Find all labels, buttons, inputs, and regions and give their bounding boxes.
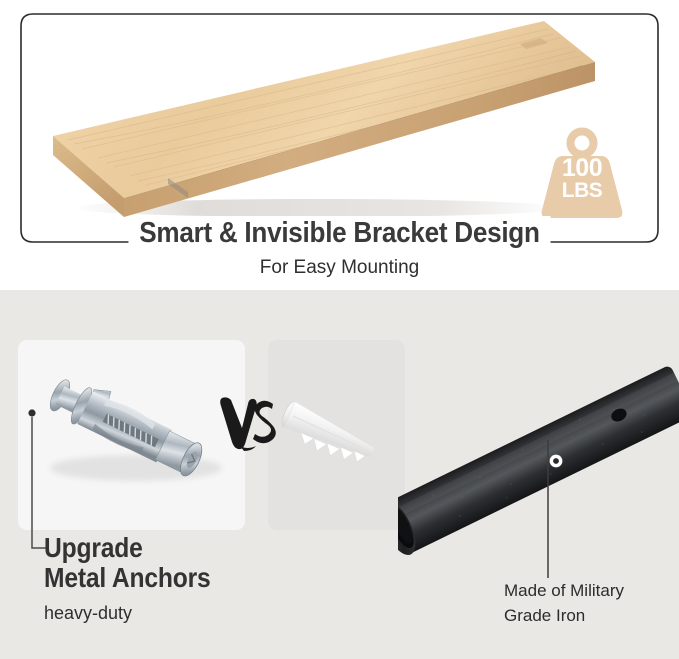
caption-right: Made of Military Grade Iron: [504, 578, 679, 628]
callout-dot-icon: [550, 455, 563, 468]
iron-rod-illustration: [398, 328, 679, 590]
caption-left-line2: Metal Anchors: [44, 563, 308, 593]
iron-rod-image: [398, 328, 679, 590]
plastic-anchor-illustration: [268, 340, 405, 530]
weight-capacity-badge: 100 LBS: [536, 126, 628, 222]
headline-wrapper: Smart & Invisible Bracket Design: [0, 216, 679, 250]
metal-anchor-card: [18, 340, 245, 530]
page-subheadline: For Easy Mounting: [0, 256, 679, 280]
shelf-illustration: [48, 18, 618, 218]
top-panel: 100 LBS Smart & Invisible Bracket Design…: [0, 0, 679, 290]
plastic-anchor-card: [268, 340, 405, 530]
caption-left: Upgrade Metal Anchors heavy-duty: [44, 533, 344, 624]
versus-mark: [218, 392, 280, 458]
weight-badge-number: 100: [536, 156, 628, 181]
caption-left-line1: Upgrade: [44, 533, 308, 563]
metal-anchor-illustration: [18, 340, 245, 530]
caption-right-line1: Made of Military: [504, 578, 679, 603]
vs-icon: [218, 392, 280, 458]
caption-left-sub: heavy-duty: [44, 602, 344, 624]
weight-badge-unit: LBS: [536, 180, 628, 201]
shelf-product-image: [48, 18, 618, 218]
caption-right-line2: Grade Iron: [504, 603, 679, 628]
page-headline: Smart & Invisible Bracket Design: [128, 216, 550, 250]
